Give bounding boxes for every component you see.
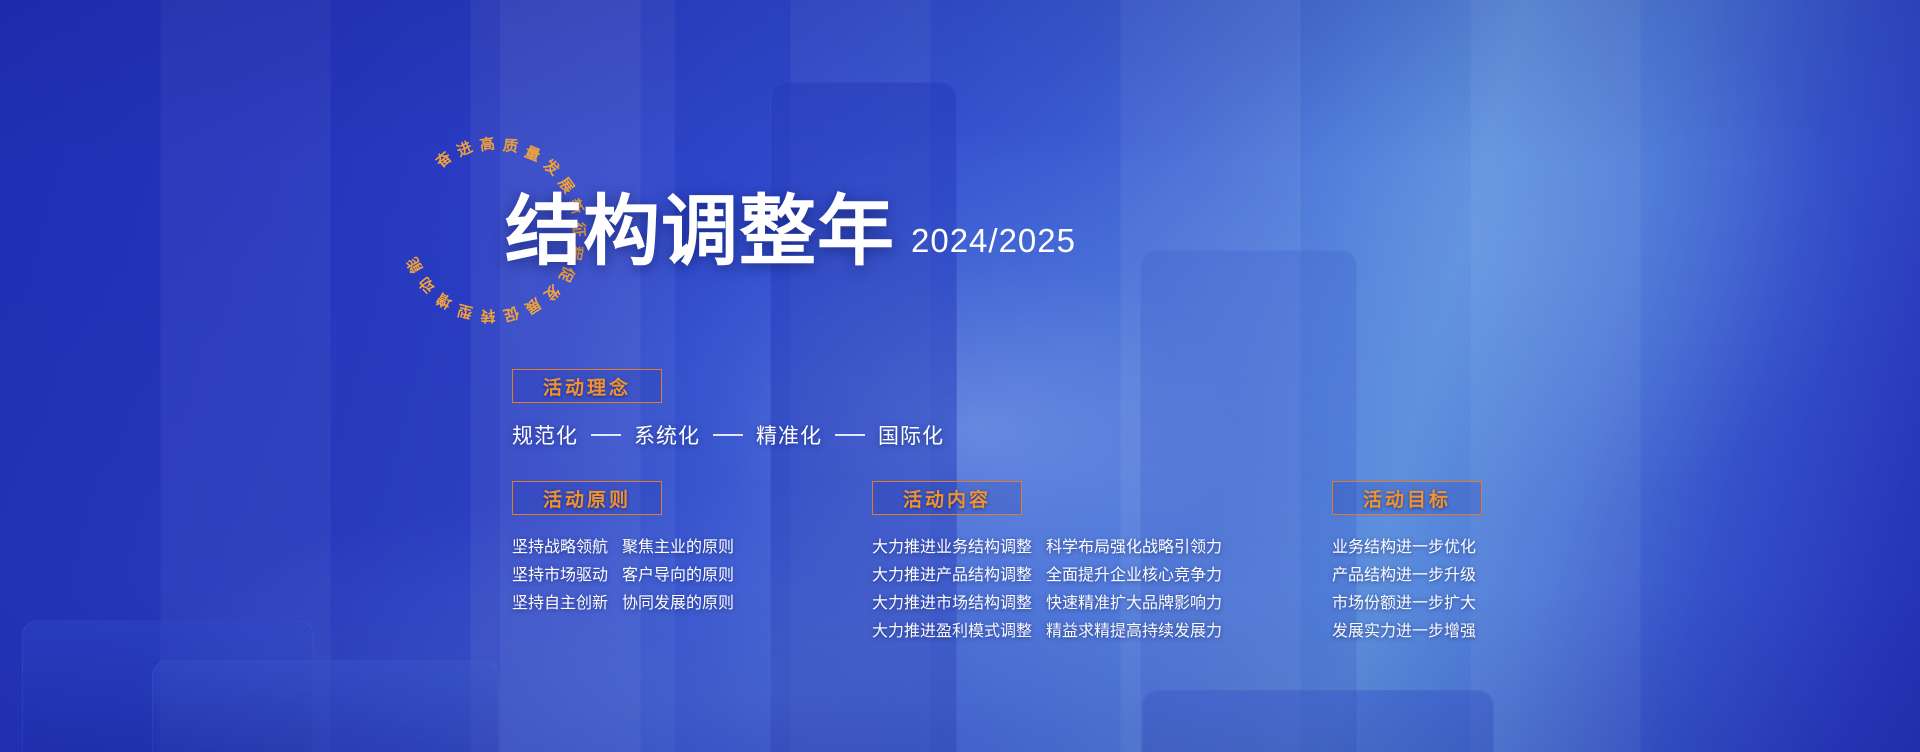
list-item: 大力推进盈利模式调整精益求精提高持续发展力 [872, 617, 1222, 645]
badge-activity-principles[interactable]: 活动原则 [512, 481, 662, 515]
concept-separator-dash [591, 434, 621, 436]
list-item: 大力推进市场结构调整快速精准扩大品牌影响力 [872, 589, 1222, 617]
list-item-secondary: 快速精准扩大品牌影响力 [1046, 589, 1222, 617]
concept-item: 规范化 [512, 420, 578, 450]
list-item-primary: 大力推进盈利模式调整 [872, 617, 1032, 645]
list-item: 坚持战略领航聚焦主业的原则 [512, 533, 734, 561]
list-item-primary: 大力推进市场结构调整 [872, 589, 1032, 617]
list-item: 产品结构进一步升级 [1332, 561, 1476, 589]
badge-activity-goals[interactable]: 活动目标 [1332, 481, 1482, 515]
list-item-primary: 大力推进业务结构调整 [872, 533, 1032, 561]
list-item-primary: 业务结构进一步优化 [1332, 533, 1476, 561]
concept-item: 国际化 [878, 420, 944, 450]
concept-item: 系统化 [634, 420, 700, 450]
badge-activity-content[interactable]: 活动内容 [872, 481, 1022, 515]
concept-item: 精准化 [756, 420, 822, 450]
list-item: 业务结构进一步优化 [1332, 533, 1476, 561]
list-item-primary: 产品结构进一步升级 [1332, 561, 1476, 589]
concept-slogan-line: 规范化系统化精准化国际化 [512, 420, 944, 450]
list-item: 大力推进业务结构调整科学布局强化战略引领力 [872, 533, 1222, 561]
headline-row: 结构调整年 2024/2025 [505, 196, 1076, 270]
list-item-primary: 发展实力进一步增强 [1332, 617, 1476, 645]
list-item: 发展实力进一步增强 [1332, 617, 1476, 645]
title-year: 2024/2025 [911, 222, 1076, 260]
list-item: 坚持自主创新协同发展的原则 [512, 589, 734, 617]
list-item: 大力推进产品结构调整全面提升企业核心竞争力 [872, 561, 1222, 589]
list-item-primary: 市场份额进一步扩大 [1332, 589, 1476, 617]
list-item-primary: 坚持市场驱动 [512, 561, 608, 589]
list-item-secondary: 协同发展的原则 [622, 589, 734, 617]
list-item-secondary: 精益求精提高持续发展力 [1046, 617, 1222, 645]
list-item-primary: 坚持自主创新 [512, 589, 608, 617]
list-item-secondary: 客户导向的原则 [622, 561, 734, 589]
list-activity-goals: 业务结构进一步优化产品结构进一步升级市场份额进一步扩大发展实力进一步增强 [1332, 533, 1476, 645]
list-item-secondary: 聚焦主业的原则 [622, 533, 734, 561]
list-item: 坚持市场驱动客户导向的原则 [512, 561, 734, 589]
list-item-secondary: 全面提升企业核心竞争力 [1046, 561, 1222, 589]
list-item-primary: 坚持战略领航 [512, 533, 608, 561]
list-item-secondary: 科学布局强化战略引领力 [1046, 533, 1222, 561]
badge-activity-concept[interactable]: 活动理念 [512, 369, 662, 403]
campaign-banner: 奋进高质量发展新征程促发展促转型增动能 结构调整年 2024/2025 活动理念… [0, 0, 1920, 752]
list-activity-content: 大力推进业务结构调整科学布局强化战略引领力大力推进产品结构调整全面提升企业核心竞… [872, 533, 1222, 645]
list-item: 市场份额进一步扩大 [1332, 589, 1476, 617]
list-item-primary: 大力推进产品结构调整 [872, 561, 1032, 589]
concept-separator-dash [713, 434, 743, 436]
list-activity-principles: 坚持战略领航聚焦主业的原则坚持市场驱动客户导向的原则坚持自主创新协同发展的原则 [512, 533, 734, 617]
concept-separator-dash [835, 434, 865, 436]
page-title: 结构调整年 [505, 196, 895, 270]
